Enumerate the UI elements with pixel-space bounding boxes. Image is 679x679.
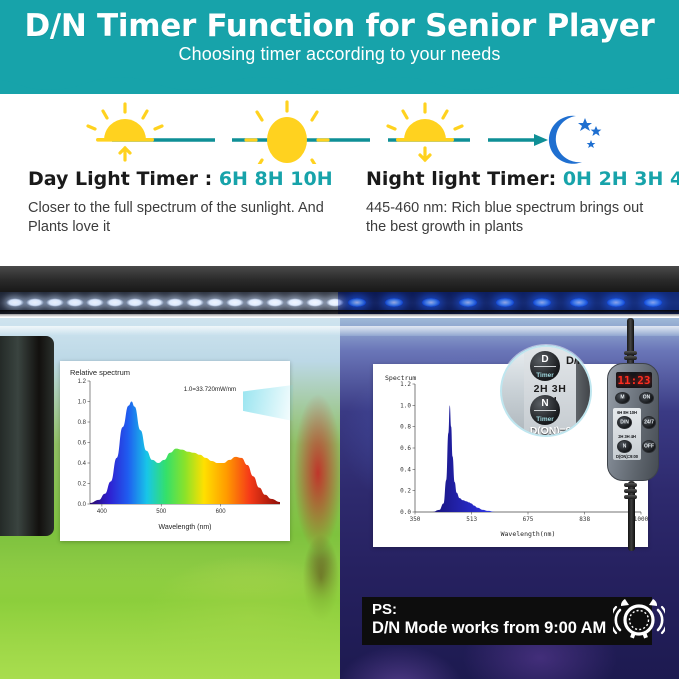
button-label: M [616, 396, 629, 401]
svg-text:0.0: 0.0 [78, 502, 87, 508]
svg-text:400: 400 [97, 509, 108, 515]
svg-text:513: 513 [466, 516, 477, 523]
alarm-clock-icon [613, 596, 665, 642]
relative-spectrum-svg: Relative spectrum 1.0=33.720mW/nm 0.00.2… [60, 361, 290, 541]
svg-text:0.6: 0.6 [400, 445, 411, 452]
timer-descriptions: Day Light Timer : 6H 8H 10H Closer to th… [0, 168, 679, 266]
cord-ring [624, 356, 637, 360]
button-label: OFF [643, 444, 655, 449]
sun-icon [246, 102, 328, 164]
controller-button-dn[interactable]: D/N [617, 416, 632, 429]
night-timer-heading: Night light Timer: 0H 2H 3H 4H [366, 168, 666, 190]
controller-button-m[interactable]: M [615, 392, 630, 404]
svg-text:1.2: 1.2 [400, 381, 411, 388]
svg-text:0.2: 0.2 [400, 488, 411, 495]
led-light-bar [0, 266, 679, 318]
cord-ring [624, 483, 637, 487]
svg-text:Wavelength (nm): Wavelength (nm) [158, 524, 211, 531]
day-timer-label: Day Light Timer : [28, 168, 219, 190]
magnified-controller-view: D Timer D/N 2H 3H 4H N Timer D(ON)=9:00 [500, 345, 592, 437]
cord-ring [624, 351, 637, 355]
svg-text:1000: 1000 [634, 516, 648, 523]
wave-divider [0, 69, 679, 94]
foreground-grass [0, 559, 340, 679]
night-timer-body: 445-460 nm: Rich blue spectrum brings ou… [366, 199, 666, 236]
svg-text:838: 838 [579, 516, 590, 523]
day-timer-body: Closer to the full spectrum of the sunli… [28, 199, 338, 236]
n-timer-knob-top: N [530, 398, 560, 409]
knob-divider [534, 366, 556, 367]
controller-button-on[interactable]: ON [639, 392, 654, 404]
ps-message: D/N Mode works from 9:00 AM [372, 619, 606, 638]
svg-text:0.2: 0.2 [78, 482, 87, 488]
light-bar-shadow [0, 310, 679, 317]
controller-body: 11:23 M ON 6H 8H 10H 2H 3H 4H D(ON)=9:00… [607, 363, 659, 481]
svg-text:1.2: 1.2 [78, 379, 87, 385]
infographic-page: D/N Timer Function for Senior Player Cho… [0, 0, 679, 679]
svg-text:Wavelength(nm): Wavelength(nm) [501, 530, 556, 538]
moon-icon [549, 116, 602, 164]
cord-ring [624, 495, 637, 499]
d-timer-knob[interactable]: D Timer [530, 351, 560, 381]
d-timer-knob-top: D [530, 354, 560, 365]
panel-night-hours: 2H 3H 4H [613, 434, 641, 439]
filter-tube [0, 336, 54, 536]
day-light-timer-column: Day Light Timer : 6H 8H 10H Closer to th… [28, 168, 338, 236]
controller-button-n[interactable]: N [617, 440, 632, 453]
knob-divider [534, 410, 556, 411]
sunset-icon [388, 104, 462, 160]
n-timer-knob-bottom: Timer [530, 416, 560, 423]
header-banner: D/N Timer Function for Senior Player Cho… [0, 0, 679, 94]
svg-text:0.6: 0.6 [78, 441, 87, 447]
svg-text:1.0: 1.0 [400, 402, 411, 409]
svg-text:350: 350 [410, 516, 421, 523]
day-timer-heading: Day Light Timer : 6H 8H 10H [28, 168, 338, 190]
button-label: ON [640, 396, 653, 401]
button-label: D/N [618, 420, 631, 425]
panel-d-on: D(ON)=9:00 [613, 454, 641, 459]
svg-text:Relative spectrum: Relative spectrum [70, 368, 130, 377]
button-label: N [618, 444, 631, 449]
magnifier-contents: D Timer D/N 2H 3H 4H N Timer D(ON)=9:00 [502, 347, 592, 437]
d-timer-knob-bottom: Timer [530, 372, 560, 379]
led-timer-controller: 11:23 M ON 6H 8H 10H 2H 3H 4H D(ON)=9:00… [607, 363, 659, 503]
svg-text:0.4: 0.4 [78, 461, 87, 467]
cord-ring [624, 489, 637, 493]
controller-button-247[interactable]: 24/7 [642, 416, 656, 429]
svg-text:500: 500 [156, 509, 167, 515]
svg-text:600: 600 [216, 509, 227, 515]
tank-rim [0, 326, 679, 336]
svg-text:675: 675 [523, 516, 534, 523]
controller-display: 11:23 [616, 372, 652, 388]
ps-note-banner: PS: D/N Mode works from 9:00 AM [362, 597, 652, 645]
dn-mode-label: D/N [566, 355, 585, 367]
ps-label: PS: [372, 601, 397, 618]
display-time: 11:23 [617, 374, 650, 387]
day-timer-hours: 6H 8H 10H [219, 168, 333, 190]
n-timer-knob[interactable]: N Timer [530, 395, 560, 425]
svg-text:1.0=33.720mW/nm: 1.0=33.720mW/nm [184, 386, 236, 393]
sunrise-icon [88, 104, 162, 160]
panel-day-hours: 6H 8H 10H [613, 410, 641, 415]
relative-spectrum-chart: Relative spectrum 1.0=33.720mW/nm 0.00.2… [60, 361, 290, 541]
svg-text:1.0: 1.0 [78, 400, 87, 406]
button-label: 24/7 [643, 420, 655, 425]
controller-button-off[interactable]: OFF [642, 440, 656, 453]
svg-text:0.0: 0.0 [400, 509, 411, 516]
night-timer-hours: 0H 2H 3H 4H [563, 168, 679, 190]
svg-text:0.4: 0.4 [400, 466, 411, 473]
timeline-arrow-line [112, 134, 548, 146]
day-night-timeline [0, 96, 679, 164]
timeline-graphic [0, 96, 679, 164]
page-title: D/N Timer Function for Senior Player [0, 8, 679, 44]
page-subtitle: Choosing timer according to your needs [0, 44, 679, 65]
svg-text:0.8: 0.8 [400, 424, 411, 431]
svg-text:0.8: 0.8 [78, 420, 87, 426]
night-light-timer-column: Night light Timer: 0H 2H 3H 4H 445-460 n… [366, 168, 666, 236]
night-timer-label: Night light Timer: [366, 168, 563, 190]
